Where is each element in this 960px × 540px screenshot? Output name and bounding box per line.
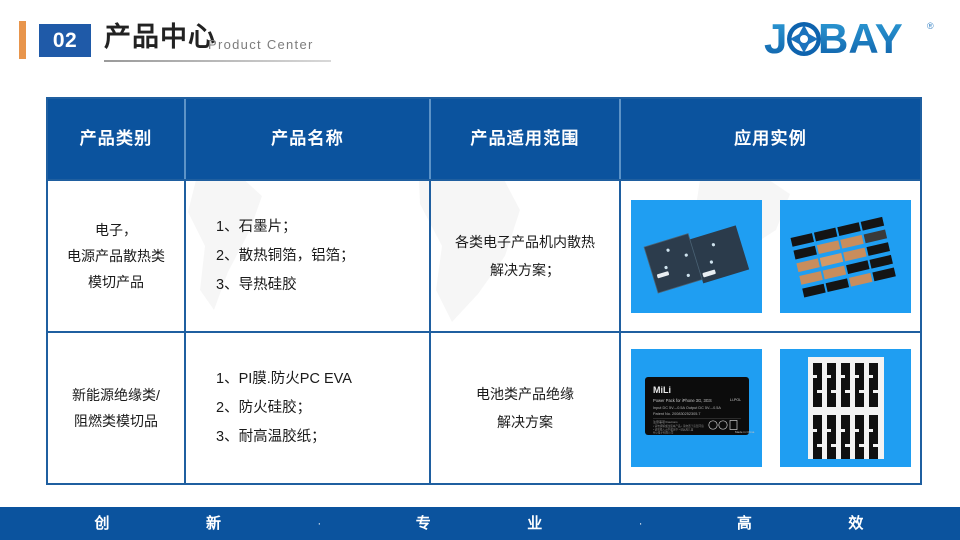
section-number: 02: [53, 30, 77, 51]
cell-scope: 各类电子产品机内散热 解决方案；: [431, 181, 621, 331]
product-photo-foil-strips: [780, 200, 911, 313]
page-footer: 创 新 · 专 业 · 高 效: [0, 507, 960, 540]
svg-text:• 请勿拆解或改装本产品 • 请勿置于高温环境: • 请勿拆解或改装本产品 • 请勿置于高温环境: [653, 424, 704, 428]
section-number-badge: 02: [39, 24, 91, 57]
product-table: 产品类别 产品名称 产品适用范围 应用实例 电子， 电源产品散热类 模切产品 1…: [46, 97, 922, 485]
svg-text:注意事项/Cautions: 注意事项/Cautions: [653, 419, 678, 424]
footer-separator: ·: [318, 515, 322, 533]
svg-text:J: J: [764, 15, 787, 62]
svg-text:Input DC 5V---0.5A Output DC: Input DC 5V---0.5A Output DC 5V---0.5A: [653, 406, 721, 410]
product-name-item: 2、防火硅胶；: [216, 394, 423, 423]
footer-word: 高: [737, 515, 754, 533]
table-header-row: 产品类别 产品名称 产品适用范围 应用实例: [48, 99, 920, 179]
product-photo-die-cut-strips: [780, 349, 911, 467]
cell-product-names: 1、PI膜.防火PC EVA 2、防火硅胶； 3、耐高温胶纸；: [186, 333, 431, 483]
product-name-item: 3、耐高温胶纸；: [216, 423, 423, 452]
page-title: 产品中心: [104, 20, 216, 54]
product-photo-graphite-sheet: [631, 200, 762, 313]
product-photo-battery-label: MiLi Power Pack for iPhone 3G, 3GS Input…: [631, 349, 762, 467]
logo-trademark: ®: [927, 21, 934, 31]
accent-bar: [19, 21, 26, 59]
table-row: 新能源绝缘类/ 阻燃类模切品 1、PI膜.防火PC EVA 2、防火硅胶； 3、…: [48, 331, 920, 483]
svg-text:BAY: BAY: [818, 15, 903, 62]
cell-examples: [621, 181, 920, 331]
cell-category: 电子， 电源产品散热类 模切产品: [48, 181, 186, 331]
svg-text:Patent No. 200830252305.7: Patent No. 200830252305.7: [653, 412, 701, 416]
column-header-category: 产品类别: [48, 99, 186, 179]
cell-examples: MiLi Power Pack for iPhone 3G, 3GS Input…: [621, 333, 920, 483]
cell-product-names: 1、石墨片； 2、散热铜箔，铝箔； 3、导热硅胶: [186, 181, 431, 331]
footer-word: 业: [527, 515, 544, 533]
footer-word: 新: [206, 515, 223, 533]
footer-word: 创: [95, 515, 112, 533]
footer-separator: ·: [639, 515, 643, 533]
product-name-item: 2、散热铜箔，铝箔；: [216, 242, 423, 271]
page-subtitle: Product Center: [208, 37, 314, 53]
jobay-logo: J BAY ®: [764, 13, 942, 65]
product-name-item: 3、导热硅胶: [216, 271, 423, 300]
column-header-scope: 产品适用范围: [431, 99, 621, 179]
cell-scope: 电池类产品绝缘 解决方案: [431, 333, 621, 483]
battery-brand-text: MiLi: [653, 385, 671, 395]
column-header-examples: 应用实例: [621, 99, 920, 179]
page-header: 02 产品中心 Product Center J BAY ®: [0, 0, 960, 80]
product-name-item: 1、PI膜.防火PC EVA: [216, 365, 423, 394]
svg-text:Power Pack for iPhone 3G, 3GS: Power Pack for iPhone 3G, 3GS: [653, 398, 712, 403]
svg-text:Li-POL: Li-POL: [730, 398, 741, 402]
title-underline: [104, 60, 331, 62]
column-header-name: 产品名称: [186, 99, 431, 179]
product-name-item: 1、石墨片；: [216, 213, 423, 242]
footer-word: 专: [416, 515, 433, 533]
table-row: 电子， 电源产品散热类 模切产品 1、石墨片； 2、散热铜箔，铝箔； 3、导热硅…: [48, 179, 920, 331]
svg-text:Made in China: Made in China: [735, 430, 755, 434]
footer-word: 效: [848, 515, 865, 533]
svg-text:MiLi电子有限公司: MiLi电子有限公司: [653, 431, 674, 435]
cell-category: 新能源绝缘类/ 阻燃类模切品: [48, 333, 186, 483]
